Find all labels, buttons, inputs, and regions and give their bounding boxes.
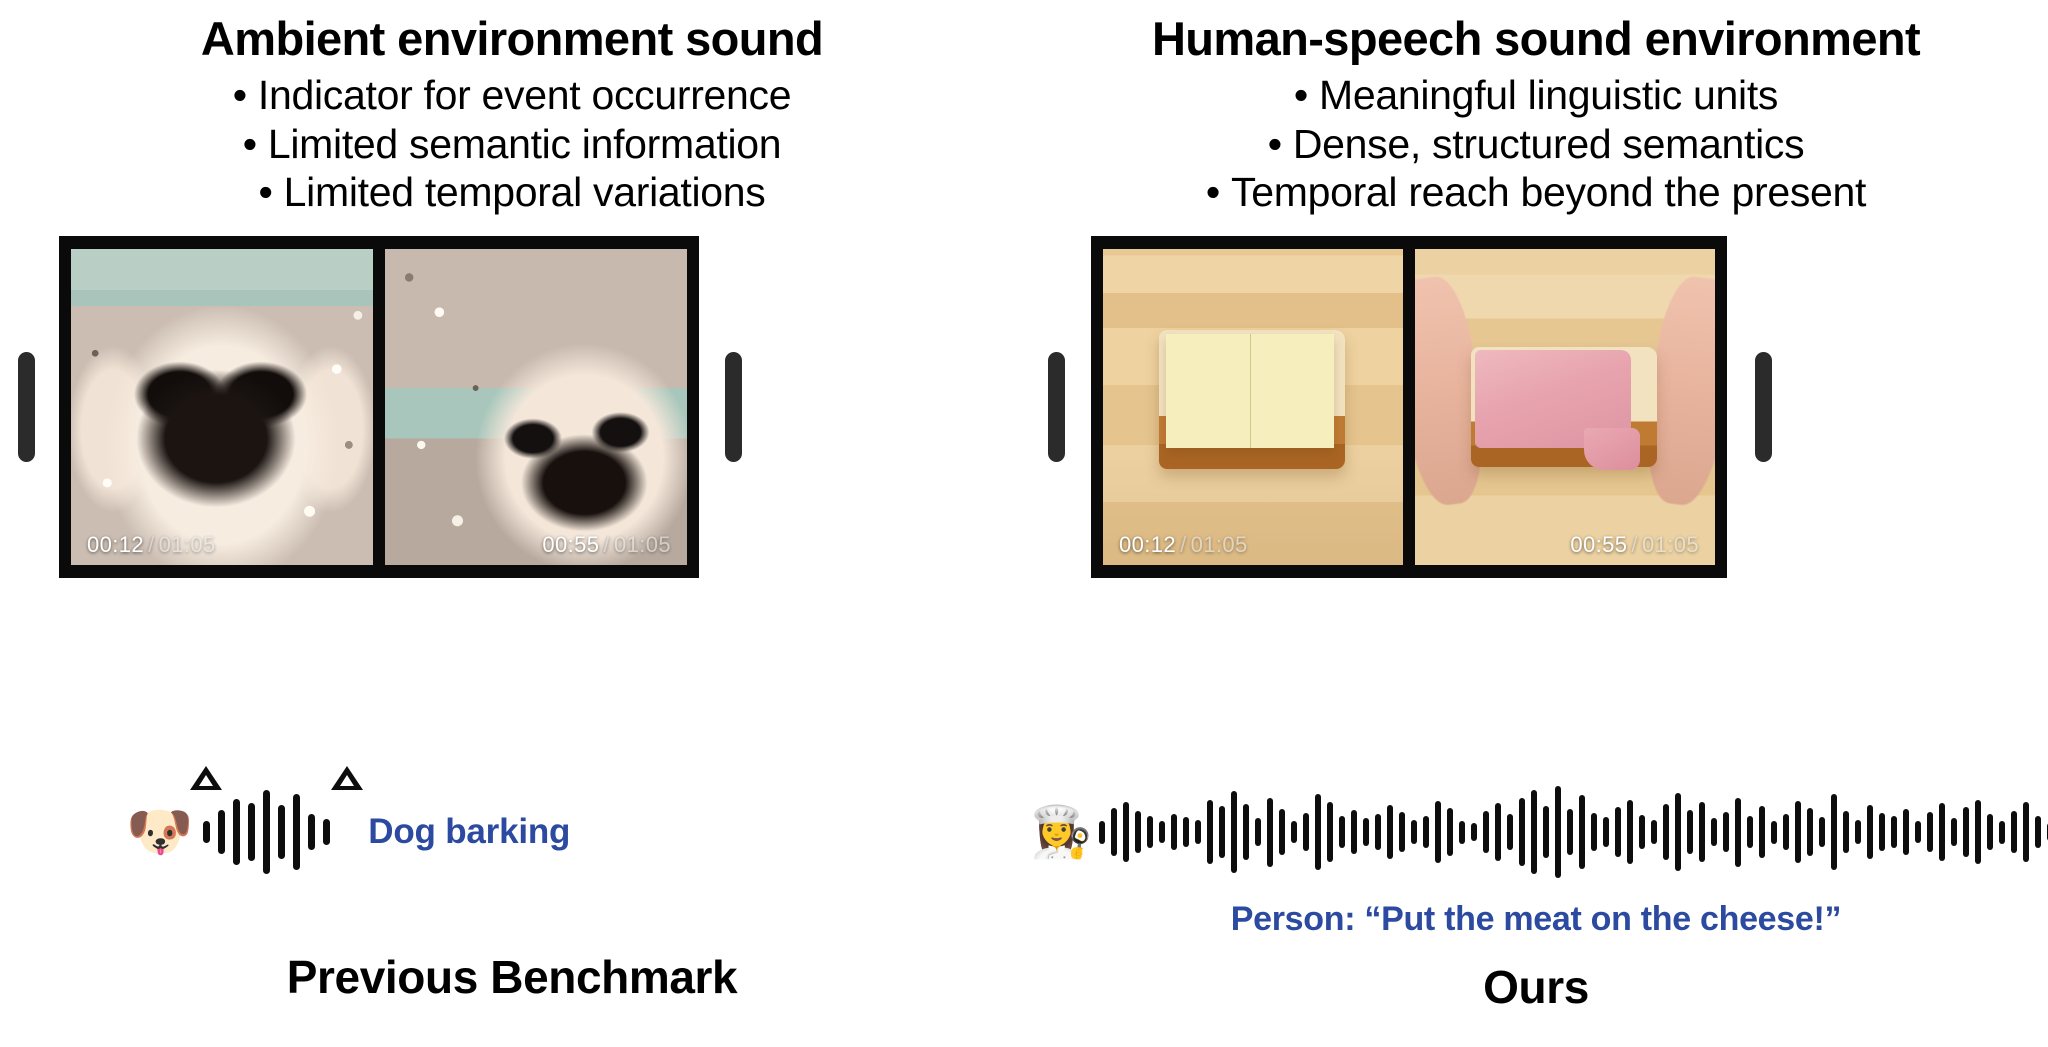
waveform-bar: [1531, 790, 1537, 874]
left-panel-title: Ambient environment sound: [0, 14, 1024, 64]
waveform-bar: [1411, 820, 1417, 845]
waveform-bar: [1819, 817, 1825, 846]
waveform-bar: [1747, 816, 1753, 847]
right-viewer-row: 00:12/01:05 00:55/01:05: [1024, 236, 2048, 578]
waveform-bar: [1231, 791, 1237, 873]
waveform-bar: [1963, 807, 1969, 858]
waveform-bar: [1891, 816, 1897, 847]
waveform-bar: [1195, 820, 1201, 845]
left-bottom-label: Previous Benchmark: [0, 950, 1024, 1004]
waveform-bar: [1099, 821, 1105, 844]
waveform-bar: [1423, 816, 1429, 847]
waveform-bar: [1111, 808, 1117, 856]
waveform-bar: [1735, 798, 1741, 867]
waveform-bar: [293, 794, 300, 870]
waveform-bar: [1567, 809, 1573, 855]
waveform-bar: [308, 814, 315, 851]
waveform-bar: [1447, 808, 1453, 856]
waveform-bar: [1351, 810, 1357, 854]
waveform-bar: [1519, 798, 1525, 865]
right-bottom-label: Ours: [1024, 960, 2048, 1014]
waveform-bar: [1831, 794, 1837, 869]
right-bullet-3: Temporal reach beyond the present: [1024, 168, 2048, 217]
left-audio-row: 🐶 Dog barking: [126, 790, 570, 874]
waveform-bar: [1207, 800, 1213, 864]
right-frame-1-current-time: 00:12: [1119, 532, 1176, 557]
waveform-bar: [1327, 802, 1333, 863]
waveform-bar: [1663, 804, 1669, 860]
waveform-bar: [1855, 820, 1861, 845]
waveform-bar: [1783, 814, 1789, 850]
right-frame-1-total-time: 01:05: [1191, 532, 1248, 557]
left-frame-1-total-time: 01:05: [159, 532, 216, 557]
right-header: Human-speech sound environment Meaningfu…: [1024, 0, 2048, 217]
waveform-bar: [1255, 818, 1261, 846]
waveform-bar: [1879, 813, 1885, 851]
waveform-bar: [1495, 803, 1501, 862]
waveform-bar: [1675, 793, 1681, 870]
waveform-bar: [1219, 806, 1225, 858]
right-outer-scroll-handle[interactable]: [1755, 352, 1772, 462]
right-bullet-list: Meaningful linguistic units Dense, struc…: [1024, 71, 2048, 217]
waveform-bar: [1183, 817, 1189, 846]
waveform-bar: [1975, 800, 1981, 864]
waveform-bar: [1771, 821, 1777, 844]
right-frame-2-total-time: 01:05: [1642, 532, 1699, 557]
waveform-bar: [1915, 821, 1921, 842]
waveform-bar: [1435, 801, 1441, 864]
waveform-bar: [1651, 820, 1657, 845]
ham-slice-shape: [1475, 350, 1631, 448]
waveform-bar: [1543, 806, 1549, 858]
waveform-bar: [1555, 786, 1561, 878]
waveform-bar: [1939, 803, 1945, 862]
waveform-bar: [1339, 816, 1345, 847]
waveform-bar: [1627, 800, 1633, 864]
waveform-bar: [1843, 811, 1849, 852]
cheese-slice-shape: [1166, 334, 1334, 448]
right-bullet-1: Meaningful linguistic units: [1024, 71, 2048, 120]
right-inner-scroll-handle[interactable]: [1048, 352, 1065, 462]
comparison-figure: Ambient environment sound Indicator for …: [0, 0, 2048, 1047]
waveform-bar: [1471, 823, 1477, 841]
waveform-bar: [1459, 821, 1465, 844]
left-frame-2-total-time: 01:05: [614, 532, 671, 557]
waveform-bar: [1987, 814, 1993, 850]
waveform-bar: [278, 805, 285, 860]
woman-cook-icon: 👩‍🍳: [1030, 807, 1092, 857]
waveform-bar: [1927, 812, 1933, 852]
left-frame-1-current-time: 00:12: [87, 532, 144, 557]
waveform-bar: [1375, 814, 1381, 850]
left-audio-caption: Dog barking: [368, 812, 570, 852]
waveform-bar: [1267, 798, 1273, 867]
right-panel: Human-speech sound environment Meaningfu…: [1024, 0, 2048, 1047]
waveform-bar: [1123, 802, 1129, 863]
waveform-bar: [1951, 818, 1957, 846]
right-frame-2-current-time: 00:55: [1570, 532, 1627, 557]
left-bullet-3: Limited temporal variations: [0, 168, 1024, 217]
waveform-bar: [1579, 795, 1585, 869]
left-video-frame-2[interactable]: 00:55/01:05: [385, 249, 687, 565]
left-frame-2-current-time: 00:55: [542, 532, 599, 557]
waveform-bar: [1399, 812, 1405, 852]
waveform-bar: [323, 819, 330, 846]
waveform-bar: [1363, 818, 1369, 846]
right-frame-1-timecode: 00:12/01:05: [1119, 532, 1248, 558]
left-video-viewer[interactable]: 00:12/01:05 00:55/01:05: [59, 236, 699, 578]
left-viewer-row: 00:12/01:05 00:55/01:05: [0, 236, 1024, 578]
waveform-bar: [1291, 821, 1297, 842]
right-video-viewer[interactable]: 00:12/01:05 00:55/01:05: [1091, 236, 1727, 578]
waveform-bar: [1999, 821, 2005, 844]
waveform-bar: [203, 821, 210, 843]
left-bullet-list: Indicator for event occurrence Limited s…: [0, 71, 1024, 217]
right-audio-row: 👩‍🍳: [1030, 786, 2048, 878]
left-panel: Ambient environment sound Indicator for …: [0, 0, 1024, 1047]
waveform-bar: [1903, 809, 1909, 855]
event-marker-icon: [331, 766, 363, 790]
right-frame-2-timecode: 00:55/01:05: [1570, 532, 1699, 558]
left-frame-2-timecode: 00:55/01:05: [542, 532, 671, 558]
waveform-bar: [1591, 813, 1597, 851]
waveform-bar: [1135, 811, 1141, 852]
waveform-bar: [218, 810, 225, 855]
waveform-bar: [233, 799, 240, 865]
waveform-bar: [1795, 801, 1801, 864]
waveform-bar: [1687, 810, 1693, 854]
right-bullet-2: Dense, structured semantics: [1024, 120, 2048, 169]
event-marker-icon: [190, 766, 222, 790]
left-frame-2-time-separator: /: [599, 532, 614, 557]
waveform-bar: [1171, 814, 1177, 850]
left-inner-scroll-handle[interactable]: [725, 352, 742, 462]
waveform-bar: [2023, 802, 2029, 863]
left-waveform: [199, 790, 334, 874]
waveform-bar: [1615, 807, 1621, 858]
right-video-frame-2[interactable]: 00:55/01:05: [1415, 249, 1715, 565]
waveform-bar: [1723, 812, 1729, 852]
waveform-bar: [1159, 821, 1165, 842]
waveform-bar: [2035, 816, 2041, 847]
waveform-bar: [1279, 809, 1285, 855]
waveform-bar: [1759, 806, 1765, 858]
left-video-frame-1[interactable]: 00:12/01:05: [71, 249, 373, 565]
waveform-bar: [1243, 804, 1249, 860]
right-video-frame-1[interactable]: 00:12/01:05: [1103, 249, 1403, 565]
waveform-bar: [1867, 805, 1873, 859]
right-frame-1-time-separator: /: [1176, 532, 1191, 557]
waveform-bar: [2011, 811, 2017, 852]
waveform-bar: [263, 790, 270, 874]
waveform-bar: [1639, 815, 1645, 848]
right-waveform: [1096, 786, 2048, 878]
waveform-bar: [1711, 818, 1717, 846]
waveform-bar: [248, 803, 255, 860]
waveform-bar: [1147, 816, 1153, 847]
left-bullet-2: Limited semantic information: [0, 120, 1024, 169]
left-bullet-1: Indicator for event occurrence: [0, 71, 1024, 120]
left-header: Ambient environment sound Indicator for …: [0, 0, 1024, 217]
waveform-bar: [1387, 805, 1393, 859]
waveform-bar: [1699, 802, 1705, 863]
left-frame-1-timecode: 00:12/01:05: [87, 532, 216, 558]
right-frame-2-time-separator: /: [1627, 532, 1642, 557]
waveform-bar: [1483, 811, 1489, 852]
dog-face-icon: 🐶: [126, 805, 193, 859]
waveform-bar: [1603, 817, 1609, 846]
right-audio-caption: Person: “Put the meat on the cheese!”: [1024, 900, 2048, 939]
waveform-bar: [1303, 813, 1309, 851]
left-outer-scroll-handle[interactable]: [18, 352, 35, 462]
waveform-bar: [1507, 814, 1513, 850]
right-panel-title: Human-speech sound environment: [1024, 14, 2048, 64]
waveform-bar: [1807, 808, 1813, 856]
left-frame-1-time-separator: /: [144, 532, 159, 557]
waveform-bar: [1315, 794, 1321, 869]
